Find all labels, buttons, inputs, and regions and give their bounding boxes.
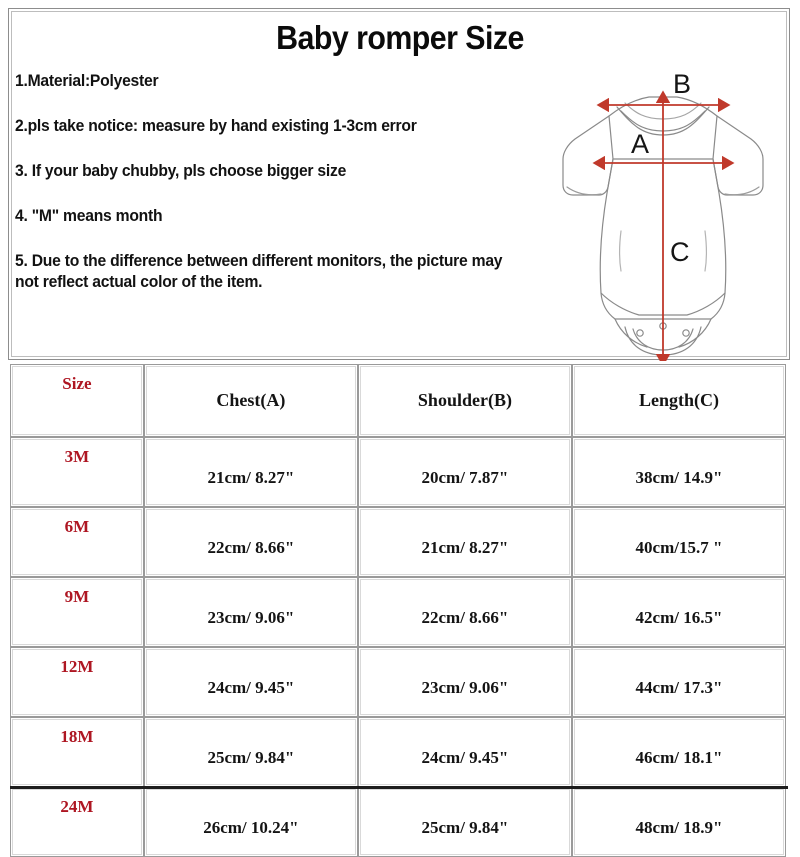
table-row: 24M 26cm/ 10.24" 25cm/ 9.84" 48cm/ 18.9" (10, 787, 786, 857)
row-size-label: 6M (10, 507, 144, 577)
row-length-value: 48cm/ 18.9" (572, 787, 786, 857)
row-chest-value: 26cm/ 10.24" (144, 787, 358, 857)
table-header-row: Size Chest(A) Shoulder(B) Length(C) (10, 364, 786, 437)
row-length-value: 42cm/ 16.5" (572, 577, 786, 647)
right-sleeve-icon (713, 116, 763, 195)
row-length-value: 40cm/15.7 " (572, 507, 786, 577)
row-chest-value: 25cm/ 9.84" (144, 717, 358, 787)
note-item-2: 2.pls take notice: measure by hand exist… (15, 116, 509, 137)
info-panel: Baby romper Size 1.Material:Polyester 2.… (8, 8, 790, 360)
row-chest-value: 24cm/ 9.45" (144, 647, 358, 717)
note-item-3: 3. If your baby chubby, pls choose bigge… (15, 161, 509, 182)
header-chest: Chest(A) (144, 364, 358, 437)
table-row: 9M 23cm/ 9.06" 22cm/ 8.66" 42cm/ 16.5" (10, 577, 786, 647)
row-chest-value: 21cm/ 8.27" (144, 437, 358, 507)
row-shoulder-value: 23cm/ 9.06" (358, 647, 572, 717)
row-size-label: 18M (10, 717, 144, 787)
length-dim-label: C (670, 237, 690, 267)
note-item-1: 1.Material:Polyester (15, 71, 509, 92)
notes-list: 1.Material:Polyester 2.pls take notice: … (15, 71, 535, 293)
row-shoulder-value: 25cm/ 9.84" (358, 787, 572, 857)
left-crease (620, 231, 622, 271)
header-size: Size (10, 364, 144, 437)
table-row: 18M 25cm/ 9.84" 24cm/ 9.45" 46cm/ 18.1" (10, 717, 786, 787)
row-shoulder-value: 20cm/ 7.87" (358, 437, 572, 507)
table-row: 12M 24cm/ 9.45" 23cm/ 9.06" 44cm/ 17.3" (10, 647, 786, 717)
row-length-value: 46cm/ 18.1" (572, 717, 786, 787)
note-item-5: 5. Due to the difference between differe… (15, 251, 509, 293)
row-size-label: 24M (10, 787, 144, 857)
measurement-arrows-group (605, 103, 722, 354)
size-chart-page: Baby romper Size 1.Material:Polyester 2.… (0, 0, 800, 800)
right-crease (705, 231, 707, 271)
row-shoulder-value: 24cm/ 9.45" (358, 717, 572, 787)
row-shoulder-value: 22cm/ 8.66" (358, 577, 572, 647)
row-size-label: 12M (10, 647, 144, 717)
right-sleeve-hem (725, 187, 759, 195)
table-row: 6M 22cm/ 8.66" 21cm/ 8.27" 40cm/15.7 " (10, 507, 786, 577)
size-table: Size Chest(A) Shoulder(B) Length(C) 3M 2… (10, 364, 786, 857)
row-length-value: 44cm/ 17.3" (572, 647, 786, 717)
romper-diagram: B A C (537, 61, 789, 361)
chest-dim-label: A (631, 129, 649, 159)
table-row: 3M 21cm/ 8.27" 20cm/ 7.87" 38cm/ 14.9" (10, 437, 786, 507)
row-length-value: 38cm/ 14.9" (572, 437, 786, 507)
table-bottom-rule (10, 786, 788, 789)
row-chest-value: 22cm/ 8.66" (144, 507, 358, 577)
snap-button-left-icon (637, 330, 643, 336)
row-shoulder-value: 21cm/ 8.27" (358, 507, 572, 577)
row-size-label: 3M (10, 437, 144, 507)
row-size-label: 9M (10, 577, 144, 647)
shoulder-dim-label: B (673, 69, 691, 99)
left-sleeve-icon (563, 116, 613, 195)
header-length: Length(C) (572, 364, 786, 437)
note-item-4: 4. "M" means month (15, 206, 509, 227)
snap-button-right-icon (683, 330, 689, 336)
left-sleeve-hem (567, 187, 601, 195)
page-title: Baby romper Size (40, 19, 759, 57)
row-chest-value: 23cm/ 9.06" (144, 577, 358, 647)
header-shoulder: Shoulder(B) (358, 364, 572, 437)
